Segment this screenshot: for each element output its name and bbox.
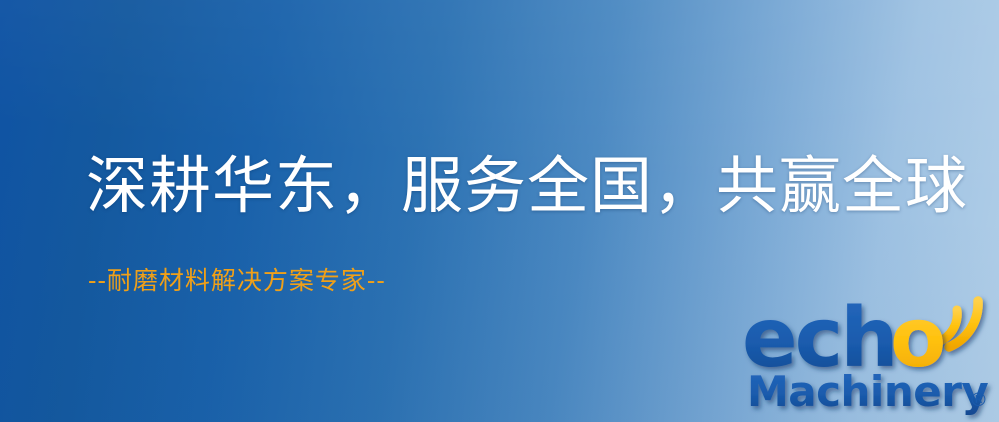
banner-headline: 深耕华东，服务全国，共赢全球 bbox=[86, 153, 968, 218]
echo-machinery-logo[interactable]: ech o Machinery ® bbox=[742, 288, 994, 418]
hero-banner: 深耕华东，服务全国，共赢全球 --耐磨材料解决方案专家-- bbox=[0, 0, 999, 422]
registered-trademark-icon: ® bbox=[969, 389, 988, 411]
banner-subtitle: --耐磨材料解决方案专家-- bbox=[88, 266, 386, 296]
logo-machinery-wordmark: Machinery bbox=[747, 367, 988, 416]
signal-arcs-icon bbox=[938, 301, 978, 347]
